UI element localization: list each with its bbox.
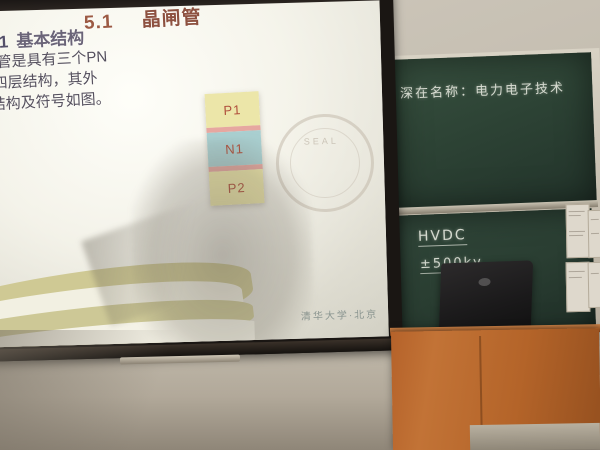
chalk-text-hvdc: HVDC [418,227,467,247]
slide-body-text: 晶闸管是具有三个PN 的四层结构，其外 结构及符号如图。 [0,46,111,116]
wall-poster [566,262,591,312]
wall-poster [588,262,600,308]
slide-title-number: 5.1 [84,11,114,33]
photo-scene: 深在名称：电力电子技术 HVDC ±500kv SEAL 5.1 晶闸管 5.1… [0,0,600,450]
slide-title-text: 晶闸管 [141,7,202,31]
projection-screen: SEAL 5.1 晶闸管 5.1.1基本结构 晶闸管是具有三个PN 的四层结构，… [0,0,389,348]
laptop [439,260,533,333]
wall-shadow [0,330,210,450]
slide-title: 5.1 晶闸管 [83,2,202,35]
laptop-logo-icon [478,278,490,286]
blackboard-upper-panel [391,52,597,212]
wall-poster [588,210,600,258]
diagram-layer-p1: P1 [205,91,261,128]
podium-base [470,423,600,450]
slide-section-number: 5.1.1 [0,32,9,53]
